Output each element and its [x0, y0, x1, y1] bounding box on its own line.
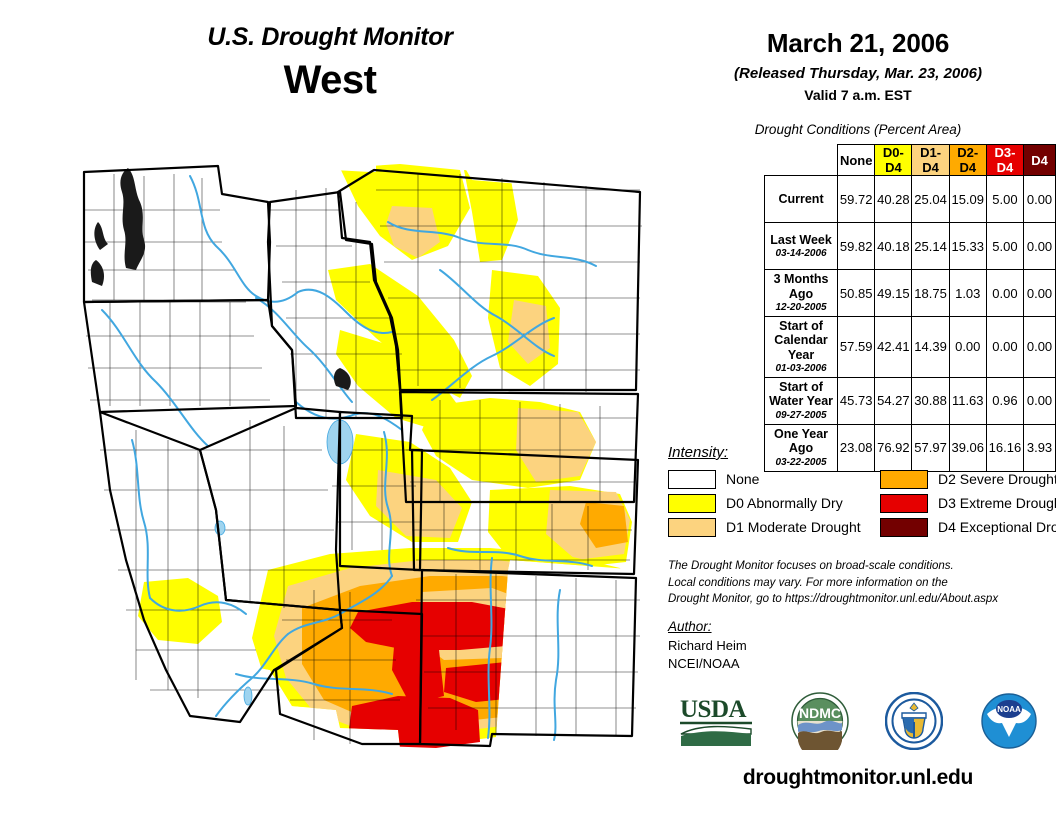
column-header-d3-d4: D3-D4 [986, 145, 1023, 176]
row-label-date: 01-03-2006 [768, 363, 834, 375]
legend-grid: None D2 Severe Drought D0 Abnormally Dry… [668, 467, 1048, 539]
table-row: 3 Months Ago 12-20-2005 50.85 49.15 18.7… [765, 270, 1056, 317]
page-title: U.S. Drought Monitor [0, 24, 660, 52]
released-date: (Released Thursday, Mar. 23, 2006) [660, 65, 1056, 82]
cell-current-d1d4: 25.04 [912, 176, 949, 223]
cell-cy-none: 57.59 [838, 317, 875, 378]
column-header-d1-d4: D1-D4 [912, 145, 949, 176]
cell-lastweek-none: 59.82 [838, 223, 875, 270]
row-label-3-months-ago: 3 Months Ago 12-20-2005 [765, 270, 838, 317]
valid-time: Valid 7 a.m. EST [660, 87, 1056, 103]
row-label-text-line2: Calendar Year [774, 333, 828, 361]
svg-text:USDA: USDA [680, 696, 747, 723]
legend-label-d3: D3 Extreme Drought [938, 495, 1056, 511]
legend-label-none: None [726, 471, 759, 487]
map-title-block: U.S. Drought Monitor West [0, 24, 660, 102]
cell-wy-d0d4: 54.27 [875, 377, 912, 424]
svg-text:NDMC: NDMC [799, 705, 841, 721]
legend-item-none: None [668, 470, 880, 489]
swatch-d2-icon [880, 470, 928, 489]
drought-conditions-table: None D0-D4 D1-D4 D2-D4 D3-D4 D4 Current … [764, 144, 1056, 472]
usdc-logo-icon [885, 692, 943, 750]
column-header-none: None [838, 145, 875, 176]
disclaimer-line-2: Local conditions may vary. For more info… [668, 575, 1048, 592]
swatch-d3-icon [880, 494, 928, 513]
cell-wy-d2d4: 11.63 [949, 377, 986, 424]
cell-current-d2d4: 15.09 [949, 176, 986, 223]
disclaimer-text: The Drought Monitor focuses on broad-sca… [668, 558, 1048, 608]
cell-3mo-d1d4: 18.75 [912, 270, 949, 317]
swatch-none-icon [668, 470, 716, 489]
column-header-d2-d4: D2-D4 [949, 145, 986, 176]
usda-logo-icon: USDA [678, 693, 754, 749]
swatch-d0-icon [668, 494, 716, 513]
legend-label-d0: D0 Abnormally Dry [726, 495, 843, 511]
cell-3mo-d3d4: 0.00 [986, 270, 1023, 317]
drought-map[interactable] [40, 150, 660, 790]
drought-map-svg[interactable] [40, 150, 660, 790]
row-label-last-week: Last Week 03-14-2006 [765, 223, 838, 270]
date-block: March 21, 2006 (Released Thursday, Mar. … [660, 28, 1056, 103]
row-label-text: Last Week [770, 233, 832, 247]
row-label-start-calendar-year: Start of Calendar Year 01-03-2006 [765, 317, 838, 378]
legend-label-d1: D1 Moderate Drought [726, 519, 861, 535]
row-label-text-line1: Start of [779, 380, 823, 394]
cell-lastweek-d3d4: 5.00 [986, 223, 1023, 270]
table-row: Last Week 03-14-2006 59.82 40.18 25.14 1… [765, 223, 1056, 270]
cell-lastweek-d1d4: 25.14 [912, 223, 949, 270]
disclaimer-line-1: The Drought Monitor focuses on broad-sca… [668, 558, 1048, 575]
cell-3mo-none: 50.85 [838, 270, 875, 317]
cell-cy-d3d4: 0.00 [986, 317, 1023, 378]
row-label-text: Current [778, 192, 823, 206]
region-title: West [0, 58, 660, 102]
cell-cy-d2d4: 0.00 [949, 317, 986, 378]
legend-item-d3: D3 Extreme Drought [880, 494, 1056, 513]
swatch-d1-icon [668, 518, 716, 537]
author-name: Richard Heim [668, 637, 1048, 656]
author-block: Author: Richard Heim NCEI/NOAA [668, 617, 1048, 674]
column-header-d4: D4 [1024, 145, 1056, 176]
legend-item-d0: D0 Abnormally Dry [668, 494, 880, 513]
drought-monitor-page: U.S. Drought Monitor West March 21, 2006… [0, 0, 1056, 816]
ndmc-logo: NDMC [791, 692, 849, 755]
legend-item-d4: D4 Exceptional Drought [880, 518, 1056, 537]
cell-current-d4: 0.00 [1024, 176, 1056, 223]
cell-3mo-d0d4: 49.15 [875, 270, 912, 317]
row-label-text-line1: Start of [779, 319, 823, 333]
row-label-date: 12-20-2005 [768, 302, 834, 314]
column-header-d0-d4: D0-D4 [875, 145, 912, 176]
cell-current-d3d4: 5.00 [986, 176, 1023, 223]
svg-text:NOAA: NOAA [997, 705, 1021, 714]
row-label-start-water-year: Start of Water Year 09-27-2005 [765, 377, 838, 424]
row-label-text: 3 Months Ago [774, 272, 829, 300]
cell-wy-d4: 0.00 [1024, 377, 1056, 424]
cell-3mo-d2d4: 1.03 [949, 270, 986, 317]
table-row: Start of Water Year 09-27-2005 45.73 54.… [765, 377, 1056, 424]
cell-wy-d3d4: 0.96 [986, 377, 1023, 424]
legend-label-d4: D4 Exceptional Drought [938, 519, 1056, 535]
cell-lastweek-d2d4: 15.33 [949, 223, 986, 270]
row-label-text-line2: Water Year [769, 394, 833, 408]
table-row: Start of Calendar Year 01-03-2006 57.59 … [765, 317, 1056, 378]
author-organization: NCEI/NOAA [668, 655, 1048, 674]
legend-item-d1: D1 Moderate Drought [668, 518, 880, 537]
legend-item-d2: D2 Severe Drought [880, 470, 1056, 489]
cell-lastweek-d0d4: 40.18 [875, 223, 912, 270]
swatch-d4-icon [880, 518, 928, 537]
table-caption: Drought Conditions (Percent Area) [660, 122, 1056, 137]
row-label-current: Current [765, 176, 838, 223]
legend-label-d2: D2 Severe Drought [938, 471, 1056, 487]
cell-wy-none: 45.73 [838, 377, 875, 424]
author-heading: Author: [668, 617, 1048, 637]
cell-lastweek-d4: 0.00 [1024, 223, 1056, 270]
cell-cy-d4: 0.00 [1024, 317, 1056, 378]
ndmc-logo-icon: NDMC [791, 692, 849, 750]
cell-current-none: 59.72 [838, 176, 875, 223]
intensity-legend: Intensity: None D2 Severe Drought D0 Abn… [668, 444, 1048, 539]
noaa-logo-icon: NOAA [980, 692, 1038, 750]
cell-3mo-d4: 0.00 [1024, 270, 1056, 317]
usdc-logo [885, 692, 943, 755]
table-corner-cell [765, 145, 838, 176]
table-header-row: None D0-D4 D1-D4 D2-D4 D3-D4 D4 [765, 145, 1056, 176]
logo-row: USDA NDMC [660, 692, 1056, 755]
row-label-date: 09-27-2005 [768, 410, 834, 422]
cell-cy-d1d4: 14.39 [912, 317, 949, 378]
row-label-date: 03-14-2006 [768, 248, 834, 260]
usda-logo: USDA [678, 693, 754, 754]
legend-title: Intensity: [668, 444, 1048, 461]
salton-sea [244, 687, 252, 705]
cell-current-d0d4: 40.28 [875, 176, 912, 223]
cell-wy-d1d4: 30.88 [912, 377, 949, 424]
cell-cy-d0d4: 42.41 [875, 317, 912, 378]
website-url: droughtmonitor.unl.edu [660, 766, 1056, 790]
table-row: Current 59.72 40.28 25.04 15.09 5.00 0.0… [765, 176, 1056, 223]
noaa-logo: NOAA [980, 692, 1038, 755]
valid-date: March 21, 2006 [660, 28, 1056, 59]
disclaimer-line-3: Drought Monitor, go to https://droughtmo… [668, 591, 1048, 608]
